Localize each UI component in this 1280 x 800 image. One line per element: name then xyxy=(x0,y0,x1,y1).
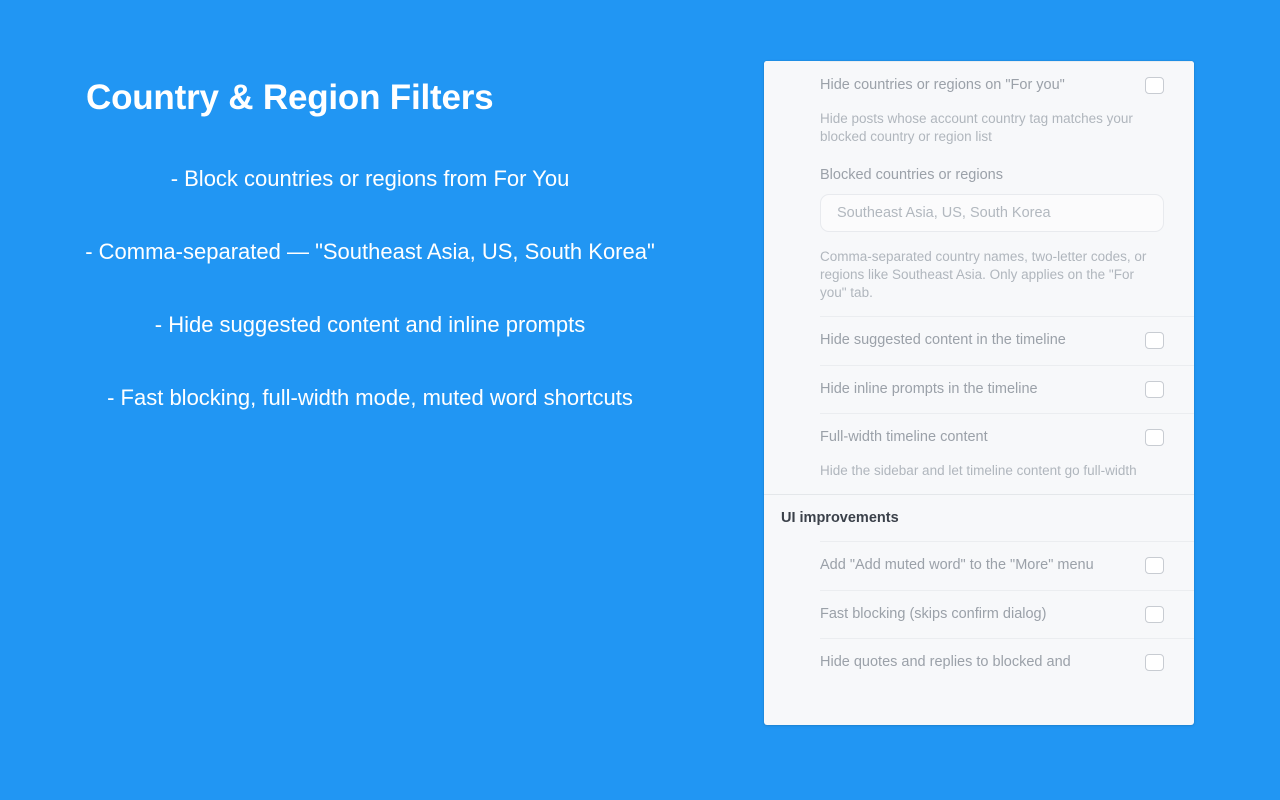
setting-label-add-muted-word: Add "Add muted word" to the "More" menu xyxy=(820,556,1145,576)
setting-label-hide-quotes: Hide quotes and replies to blocked and xyxy=(820,653,1145,673)
setting-label-blocked-list: Blocked countries or regions xyxy=(764,160,1194,190)
settings-panel: Hide countries or regions on "For you" H… xyxy=(764,61,1194,725)
setting-row-hide-inline-prompts[interactable]: Hide inline prompts in the timeline xyxy=(764,365,1194,414)
bullet-item: - Block countries or regions from For Yo… xyxy=(60,164,680,193)
setting-row-add-muted-word[interactable]: Add "Add muted word" to the "More" menu xyxy=(764,541,1194,590)
section-header-ui-improvements: UI improvements xyxy=(764,494,1194,541)
bullet-item: - Fast blocking, full-width mode, muted … xyxy=(60,383,680,412)
setting-description-blocked-list: Comma-separated country names, two-lette… xyxy=(764,248,1194,317)
blocked-list-field-wrap xyxy=(764,190,1194,248)
settings-scroll-area[interactable]: Hide countries or regions on "For you" H… xyxy=(764,61,1194,725)
setting-label-hide-suggested: Hide suggested content in the timeline xyxy=(820,331,1145,351)
checkbox-add-muted-word[interactable] xyxy=(1145,557,1164,574)
checkbox-hide-countries[interactable] xyxy=(1145,77,1164,94)
setting-row-hide-countries[interactable]: Hide countries or regions on "For you" xyxy=(764,61,1194,110)
setting-label-hide-countries: Hide countries or regions on "For you" xyxy=(820,76,1145,96)
setting-description-full-width: Hide the sidebar and let timeline conten… xyxy=(764,462,1194,494)
setting-label-fast-blocking: Fast blocking (skips confirm dialog) xyxy=(820,605,1145,625)
bullet-list: - Block countries or regions from For Yo… xyxy=(60,164,680,412)
checkbox-full-width[interactable] xyxy=(1145,429,1164,446)
setting-row-hide-suggested[interactable]: Hide suggested content in the timeline xyxy=(764,316,1194,365)
slide-copy: Country & Region Filters - Block countri… xyxy=(60,78,680,412)
setting-label-hide-inline-prompts: Hide inline prompts in the timeline xyxy=(820,380,1145,400)
bullet-item: - Hide suggested content and inline prom… xyxy=(60,310,680,339)
page-title: Country & Region Filters xyxy=(60,78,680,118)
setting-row-full-width[interactable]: Full-width timeline content xyxy=(764,413,1194,462)
blocked-countries-input[interactable] xyxy=(820,194,1164,232)
checkbox-hide-inline-prompts[interactable] xyxy=(1145,381,1164,398)
setting-description-hide-countries: Hide posts whose account country tag mat… xyxy=(764,110,1194,160)
checkbox-fast-blocking[interactable] xyxy=(1145,606,1164,623)
bullet-item: - Comma-separated — "Southeast Asia, US,… xyxy=(60,237,680,266)
setting-row-fast-blocking[interactable]: Fast blocking (skips confirm dialog) xyxy=(764,590,1194,639)
checkbox-hide-quotes[interactable] xyxy=(1145,654,1164,671)
setting-row-hide-quotes[interactable]: Hide quotes and replies to blocked and xyxy=(764,638,1194,687)
checkbox-hide-suggested[interactable] xyxy=(1145,332,1164,349)
setting-label-full-width: Full-width timeline content xyxy=(820,428,1145,448)
